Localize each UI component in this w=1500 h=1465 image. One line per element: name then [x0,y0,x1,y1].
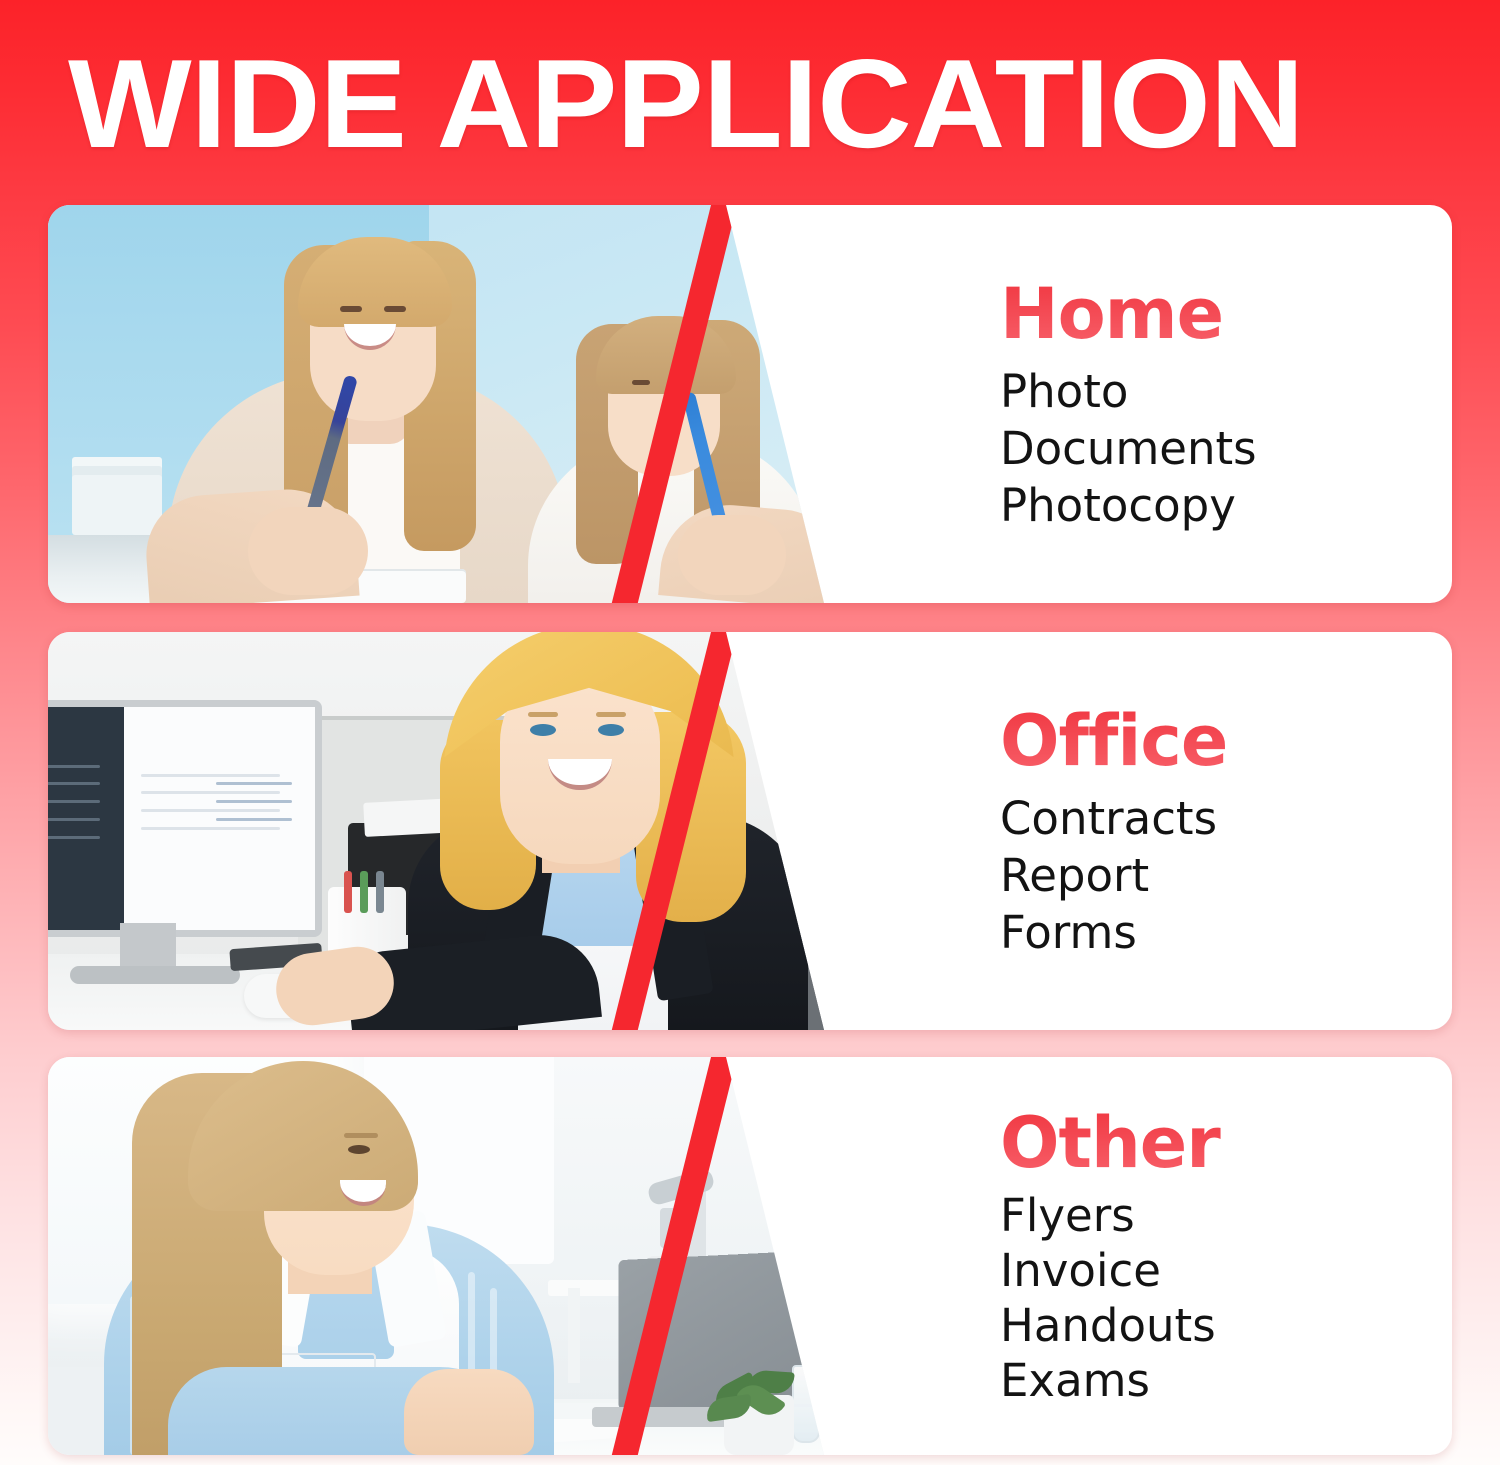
bench-leg [568,1288,580,1384]
list-item: Forms [1000,904,1412,961]
document-line [141,791,280,794]
list-item: Contracts [1000,790,1412,847]
photo-office [48,632,876,1030]
feature-list-home: Photo Documents Photocopy [1000,363,1412,534]
scene-home-tutoring [48,205,876,603]
woman-brow [344,1133,378,1138]
wide-application-poster: WIDE APPLICATION [0,0,1500,1465]
document-line-accent [216,782,291,785]
woman-brow-right [596,712,626,717]
girl-hand [678,515,786,595]
document-line-accent [216,818,291,821]
woman-eye-left [530,724,556,736]
list-item: Invoice [1000,1243,1412,1298]
sidebar-line [48,836,100,839]
application-card-other: Other Flyers Invoice Handouts Exams [48,1057,1452,1455]
sidebar-line [48,818,100,821]
desktop-monitor [48,700,322,937]
list-item: Photocopy [1000,477,1412,534]
monitor-stand-base [70,966,240,984]
photo-home [48,205,876,603]
test-tube [824,1377,852,1443]
sidebar-line [48,765,100,768]
bench-leg [848,1288,860,1384]
list-item: Flyers [1000,1188,1412,1243]
card-title-office: Office [1000,702,1412,780]
document-line [141,827,280,830]
document-line [141,774,280,777]
card-title-other: Other [1000,1104,1412,1182]
application-card-home: Home Photo Documents Photocopy [48,205,1452,603]
woman-brow-left [528,712,558,717]
pencil-grey [376,871,384,913]
list-item: Photo [1000,363,1412,420]
scene-laboratory [48,1057,876,1455]
document-line [141,809,280,812]
woman-eye-right [384,306,406,312]
list-item: Handouts [1000,1298,1412,1353]
pencil-green [360,871,368,913]
page-title: WIDE APPLICATION [68,48,1274,158]
pencil-red [344,871,352,913]
document-line-accent [216,800,291,803]
monitor-screen [48,707,315,930]
application-card-office: Office Contracts Report Forms [48,632,1452,1030]
scene-office-workspace [48,632,876,1030]
copy-other: Other Flyers Invoice Handouts Exams [1000,1057,1452,1455]
photo-other [48,1057,876,1455]
copy-office: Office Contracts Report Forms [1000,632,1452,1030]
list-item: Exams [1000,1353,1412,1408]
sidebar-line [48,800,100,803]
stacked-books [72,475,162,535]
test-tube [792,1365,820,1443]
woman-hand [248,507,368,595]
sidebar-line [48,782,100,785]
woman-eye-left [340,306,362,312]
card-title-home: Home [1000,275,1412,353]
list-item: Documents [1000,420,1412,477]
feature-list-other: Flyers Invoice Handouts Exams [1000,1188,1412,1408]
woman-clasped-hands [404,1369,534,1455]
woman-eye [348,1145,370,1154]
feature-list-office: Contracts Report Forms [1000,790,1412,961]
list-item: Report [1000,847,1412,904]
woman-eye-right [598,724,624,736]
girl-eye-left [632,380,650,385]
copy-home: Home Photo Documents Photocopy [1000,205,1452,603]
